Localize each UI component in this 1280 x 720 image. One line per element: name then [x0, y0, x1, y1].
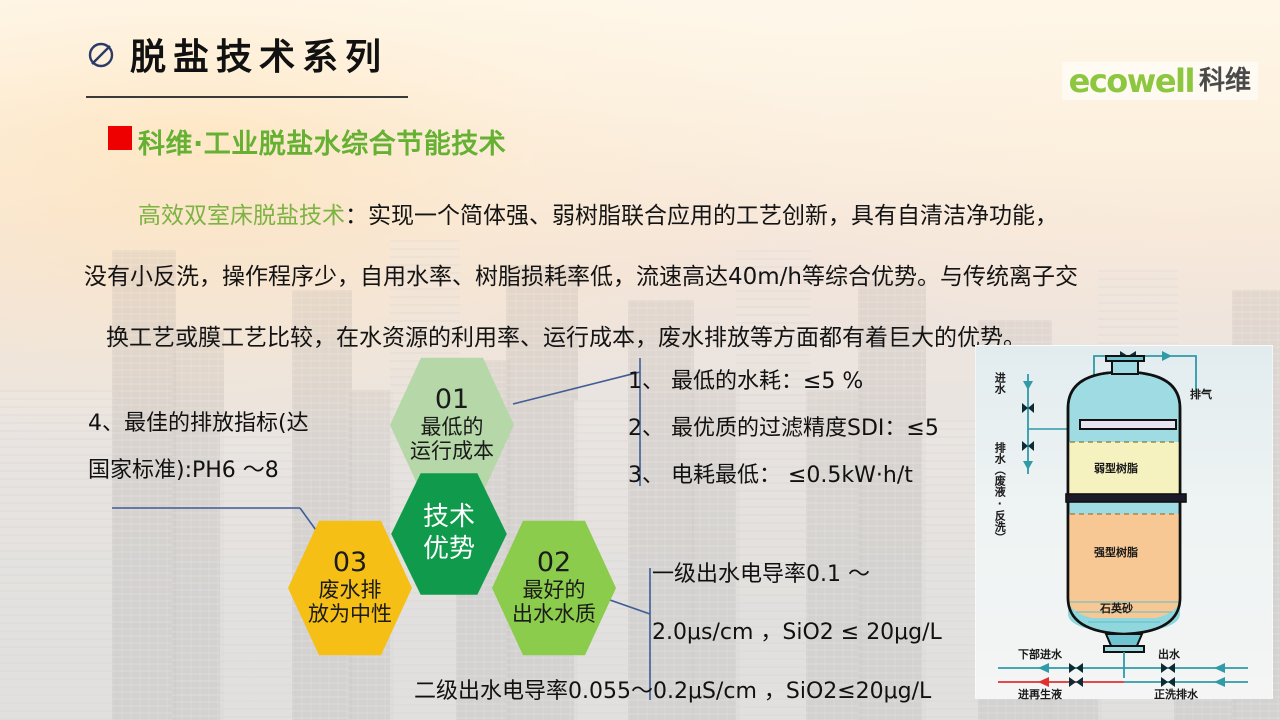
callout-item-3: 3、 电耗最低： ≤0.5kW·h/t	[628, 452, 939, 499]
hexagon-01-number: 01	[435, 386, 469, 415]
callout-left-line2: 国家标准):PH6 ～8	[88, 447, 309, 494]
callout-right-list: 1、 最低的水耗：≤5 % 2、 最优质的过滤精度SDI：≤5 3、 电耗最低：…	[628, 358, 939, 499]
hexagon-01-line1: 最低的	[421, 415, 484, 440]
callout-item-2: 2、 最优质的过滤精度SDI：≤5	[628, 405, 939, 452]
callout-left: 4、最佳的排放指标(达 国家标准):PH6 ～8	[88, 400, 309, 494]
diagram-label-regenerant: 进再生液	[1018, 686, 1062, 702]
diagram-label-vent: 排气	[1190, 386, 1212, 402]
callout-middle-line1: 一级出水电导率0.1 ～	[652, 546, 942, 604]
paragraph-lead: 高效双室床脱盐技术	[138, 203, 345, 229]
vessel-diagram: 进水 排水（废液·反洗） 排气 弱型树脂 强型树脂 石英砂 下部进水 出水 进再…	[975, 345, 1273, 699]
hexagon-03-number: 03	[333, 549, 367, 578]
diagram-label-outlet: 出水	[1158, 646, 1180, 662]
hexagon-02-line1: 最好的	[523, 578, 586, 603]
circle-slash-icon	[86, 40, 116, 70]
hexagon-center-line1: 技术	[423, 502, 475, 534]
page-title: 脱盐技术系列	[130, 28, 388, 80]
hexagon-01-line2: 运行成本	[410, 439, 494, 464]
callout-bottom: 二级出水电导率0.055～0.2μS/cm ，SiO2≤20μg/L	[414, 668, 931, 715]
brand-logo: ecowell 科维	[1062, 62, 1258, 100]
red-square-marker	[108, 126, 132, 150]
callout-middle: 一级出水电导率0.1 ～ 2.0μs/cm ，SiO2 ≤ 20μg/L	[652, 546, 942, 662]
diagram-label-rinse-drain: 正洗排水	[1154, 686, 1198, 702]
logo-cn-text: 科维	[1199, 68, 1251, 94]
intro-paragraph: 高效双室床脱盐技术：实现一个简体强、弱树脂联合应用的工艺创新，具有自清洁净功能，…	[84, 186, 1244, 369]
diagram-label-quartz-sand: 石英砂	[1100, 600, 1133, 616]
logo-latin-text: ecowell	[1069, 65, 1194, 97]
callout-middle-line2: 2.0μs/cm ，SiO2 ≤ 20μg/L	[652, 604, 942, 662]
section-subtitle: 科维·工业脱盐水综合节能技术	[138, 122, 506, 161]
hexagon-center-line2: 优势	[423, 534, 475, 566]
paragraph-line-2: 没有小反洗，操作程序少，自用水率、树脂损耗率低，流速高达40m/h等综合优势。与…	[84, 247, 1244, 308]
callout-item-1: 1、 最低的水耗：≤5 %	[628, 358, 939, 405]
diagram-label-weak-resin: 弱型树脂	[1094, 460, 1138, 476]
hexagon-02-line2: 出水水质	[512, 602, 596, 627]
hexagon-02-number: 02	[537, 549, 571, 578]
callout-left-line1: 4、最佳的排放指标(达	[88, 400, 309, 447]
diagram-label-drain: 排水（废液·反洗）	[994, 442, 1005, 543]
hexagon-03-line1: 废水排	[319, 578, 382, 603]
diagram-label-bottom-inlet: 下部进水	[1018, 646, 1062, 662]
hexagon-03-line2: 放为中性	[308, 602, 392, 627]
diagram-label-strong-resin: 强型树脂	[1094, 544, 1138, 560]
title-divider	[86, 96, 408, 98]
diagram-label-inlet: 进水	[994, 372, 1005, 394]
slide-root: 脱盐技术系列 科维·工业脱盐水综合节能技术 ecowell 科维 高效双室床脱盐…	[0, 0, 1280, 720]
paragraph-line-1: ：实现一个简体强、弱树脂联合应用的工艺创新，具有自清洁净功能，	[345, 203, 1058, 229]
